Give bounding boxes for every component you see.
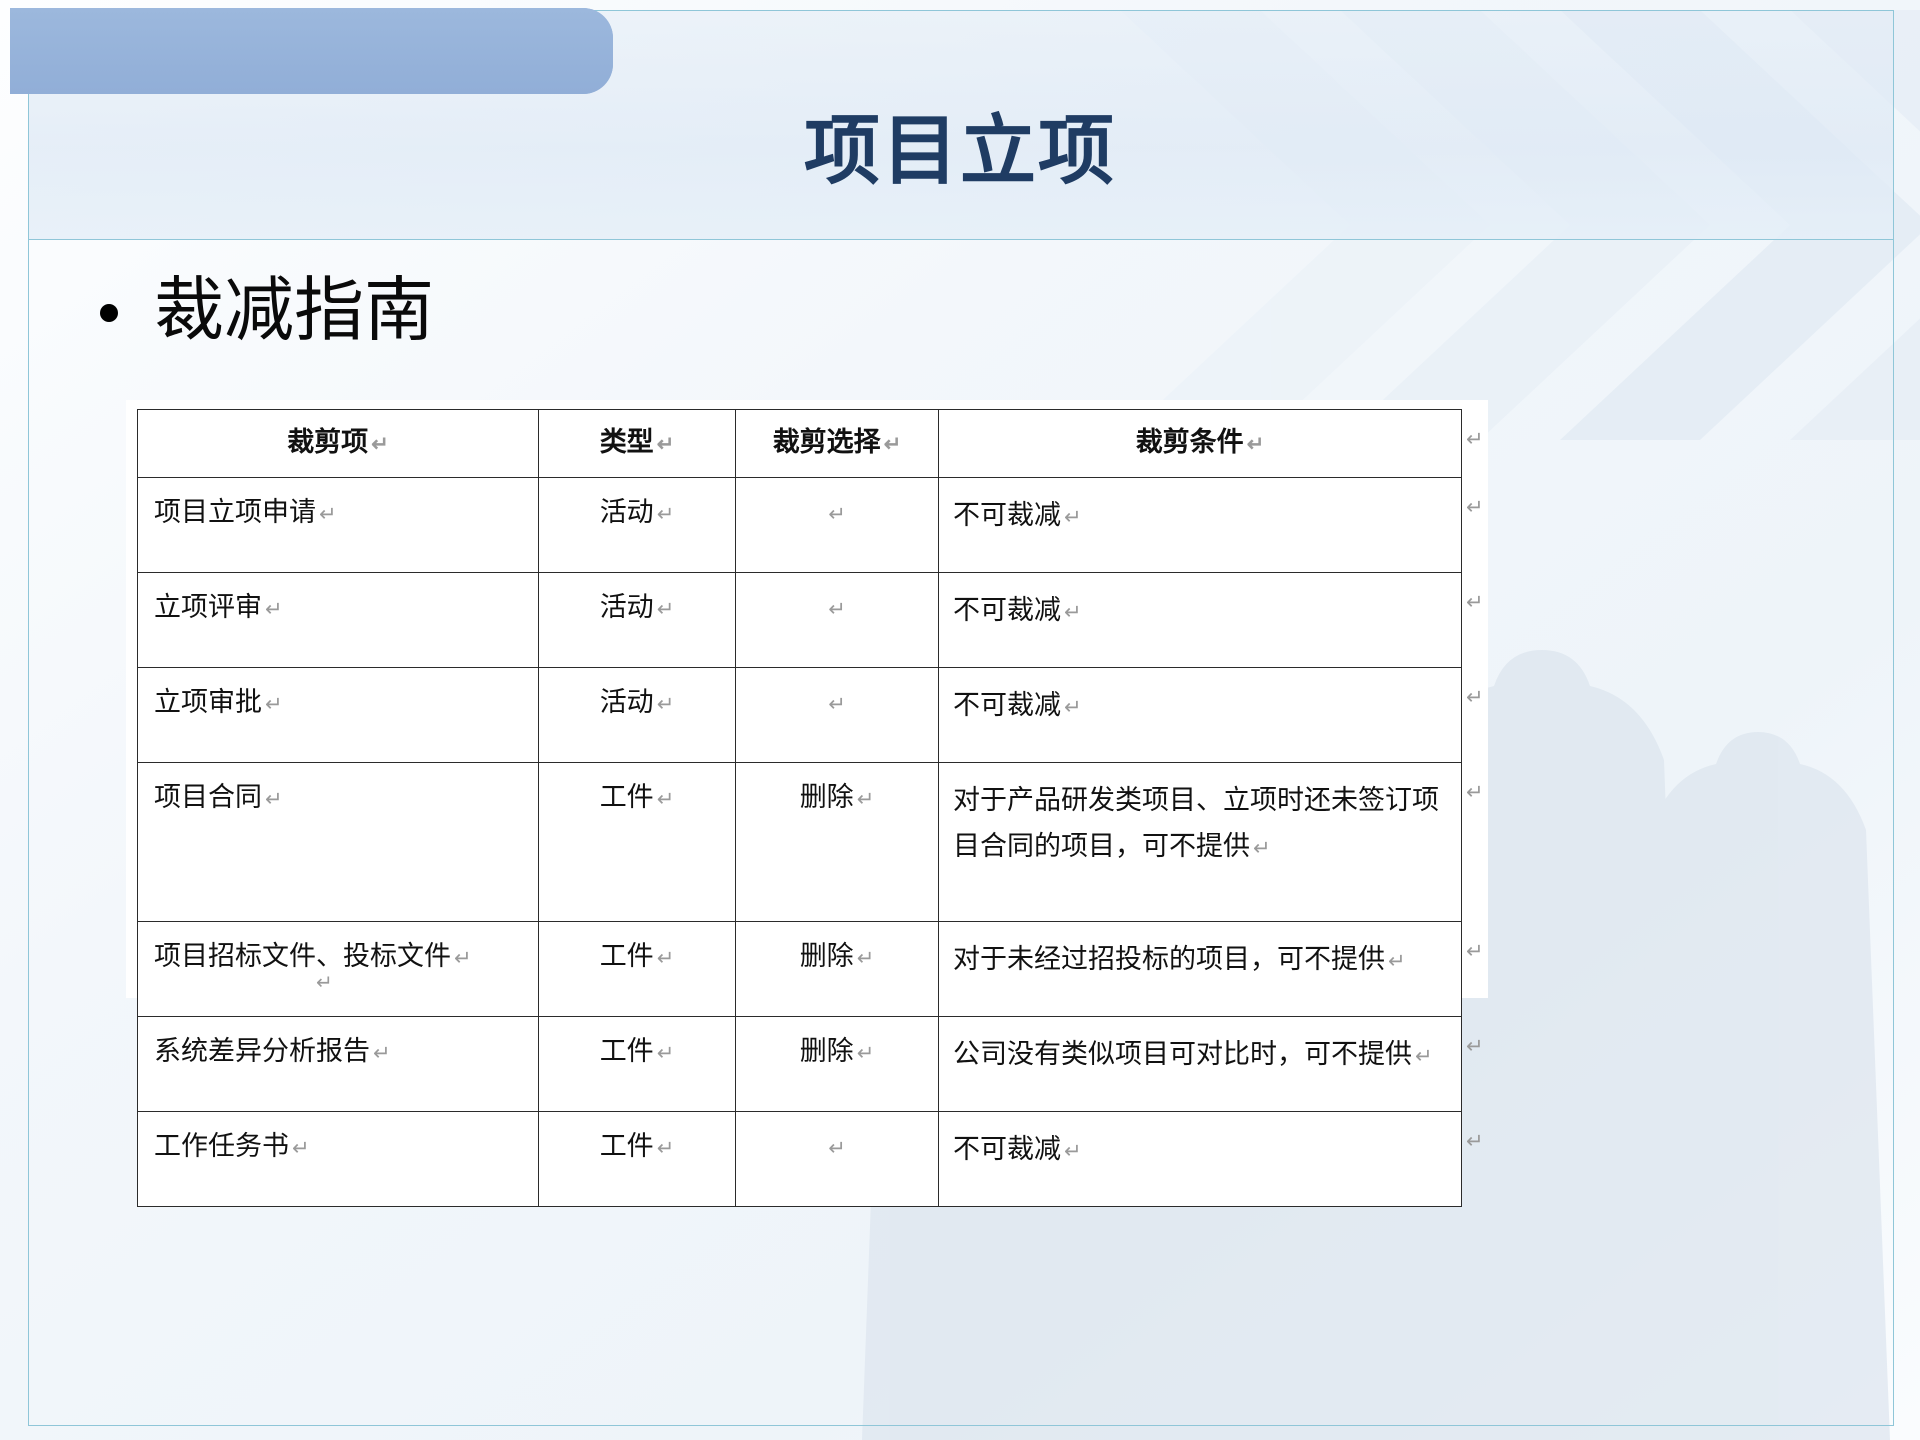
column-header-choice: 裁剪选择↵: [736, 410, 939, 478]
table-cell-choice: ↵: [736, 1112, 939, 1207]
table-cell-type: 活动↵: [539, 573, 736, 668]
table-cell-condition-text: 不可裁减: [953, 690, 1061, 720]
table-cell-choice: ↵: [736, 668, 939, 763]
paragraph-mark-icon: ↵: [1466, 685, 1484, 710]
table-head: 裁剪项↵ 类型↵ 裁剪选择↵ 裁剪条件↵: [138, 410, 1462, 478]
paragraph-mark-icon: ↵: [1466, 780, 1484, 805]
table-cell-type-text: 工件: [600, 1036, 654, 1066]
paragraph-mark-icon: ↵: [316, 503, 337, 526]
bullet-item: 裁减指南: [100, 268, 434, 352]
table-cell-item-text: 系统差异分析报告: [154, 1036, 370, 1066]
paragraph-mark-icon: ↵: [854, 1042, 875, 1065]
table-row: 立项审批↵活动↵↵不可裁减↵: [138, 668, 1462, 763]
table-cell-type: 活动↵: [539, 668, 736, 763]
paragraph-mark-icon: ↵: [1385, 950, 1406, 973]
paragraph-mark-icon: ↵: [1412, 1045, 1433, 1068]
paragraph-mark-icon: ↵: [1061, 1140, 1082, 1163]
table-cell-condition: 不可裁减↵: [939, 668, 1462, 763]
table-cell-item-text: 工作任务书: [154, 1131, 289, 1161]
table-cell-condition-text: 不可裁减: [953, 500, 1061, 530]
paragraph-mark-icon: ↵: [368, 433, 389, 456]
paragraph-mark-icon: ↵: [1466, 1129, 1484, 1154]
table-cell-type: 工件↵: [539, 1112, 736, 1207]
table-cell-item: 项目招标文件、投标文件↵: [138, 922, 539, 1017]
paragraph-mark-icon: ↵: [1250, 837, 1271, 860]
table-cell-type: 活动↵: [539, 478, 736, 573]
paragraph-mark-icon: ↵: [289, 1137, 310, 1160]
embedded-table-image: 裁剪项↵ 类型↵ 裁剪选择↵ 裁剪条件↵ 项目立项申请↵活动↵↵不可裁减↵立项评…: [126, 400, 1488, 998]
paragraph-mark-icon: ↵: [1061, 601, 1082, 624]
paragraph-mark-icon: ↵: [1466, 427, 1484, 452]
paragraph-mark-icon: ↵: [654, 947, 675, 970]
table-row: 项目招标文件、投标文件↵工件↵删除↵对于未经过招投标的项目，可不提供↵: [138, 922, 1462, 1017]
table-cell-item-text: 项目招标文件、投标文件: [154, 941, 451, 971]
corner-tab-shape-inner: [10, 8, 613, 94]
paragraph-mark-icon: ↵: [828, 1137, 846, 1160]
table-cell-condition: 公司没有类似项目可对比时，可不提供↵: [939, 1017, 1462, 1112]
table-cell-choice-text: 删除: [800, 782, 854, 812]
table-cell-condition: 对于产品研发类项目、立项时还未签订项目合同的项目，可不提供↵: [939, 763, 1462, 922]
table-cell-condition-text: 对于产品研发类项目、立项时还未签订项目合同的项目，可不提供: [953, 785, 1439, 861]
table-row: 工作任务书↵工件↵↵不可裁减↵: [138, 1112, 1462, 1207]
paragraph-mark-icon: ↵: [1061, 506, 1082, 529]
title-band-divider: [28, 239, 1894, 240]
table-cell-type-text: 活动: [600, 592, 654, 622]
paragraph-mark-icon: ↵: [654, 788, 675, 811]
paragraph-mark-icon: ↵: [1466, 495, 1484, 520]
table-cell-type-text: 活动: [600, 687, 654, 717]
table-cell-type-text: 活动: [600, 497, 654, 527]
table-cell-choice: 删除↵: [736, 922, 939, 1017]
table-cell-item: 系统差异分析报告↵: [138, 1017, 539, 1112]
column-header-type: 类型↵: [539, 410, 736, 478]
column-header-item: 裁剪项↵: [138, 410, 539, 478]
page-title: 项目立项: [300, 108, 1620, 196]
table-cell-item: 项目立项申请↵: [138, 478, 539, 573]
table-row: 系统差异分析报告↵工件↵删除↵公司没有类似项目可对比时，可不提供↵: [138, 1017, 1462, 1112]
table-row: 立项评审↵活动↵↵不可裁减↵: [138, 573, 1462, 668]
paragraph-mark-icon: ↵: [654, 1042, 675, 1065]
table-header-row: 裁剪项↵ 类型↵ 裁剪选择↵ 裁剪条件↵: [138, 410, 1462, 478]
paragraph-mark-icon: ↵: [654, 503, 675, 526]
table-cell-condition-text: 公司没有类似项目可对比时，可不提供: [953, 1039, 1412, 1069]
table-cell-condition: 不可裁减↵: [939, 573, 1462, 668]
paragraph-mark-icon: ↵: [654, 433, 675, 456]
slide: 项目立项 裁减指南 裁剪项↵ 类型↵ 裁剪选择↵ 裁剪条件↵ 项目立项申请↵活动…: [0, 0, 1920, 1440]
table-cell-item-text: 立项评审: [154, 592, 262, 622]
table-cell-choice: 删除↵: [736, 1017, 939, 1112]
column-header-condition: 裁剪条件↵: [939, 410, 1462, 478]
paragraph-mark-icon: ↵: [1244, 433, 1265, 456]
paragraph-mark-icon: ↵: [854, 947, 875, 970]
paragraph-mark-icon: ↵: [262, 598, 283, 621]
table-cell-condition-text: 对于未经过招投标的项目，可不提供: [953, 944, 1385, 974]
paragraph-mark-icon: ↵: [881, 433, 902, 456]
paragraph-mark-icon: ↵: [828, 503, 846, 526]
paragraph-mark-icon: ↵: [654, 598, 675, 621]
table-cell-condition: 不可裁减↵: [939, 478, 1462, 573]
paragraph-mark-icon: ↵: [262, 788, 283, 811]
table-cell-item-text: 立项审批: [154, 687, 262, 717]
table-row: 项目立项申请↵活动↵↵不可裁减↵: [138, 478, 1462, 573]
table-cell-condition-text: 不可裁减: [953, 595, 1061, 625]
table-cell-item: 项目合同↵: [138, 763, 539, 922]
table-cell-item: 立项评审↵: [138, 573, 539, 668]
paragraph-mark-icon: ↵: [828, 693, 846, 716]
table-cell-type: 工件↵: [539, 922, 736, 1017]
table-row: 项目合同↵工件↵删除↵对于产品研发类项目、立项时还未签订项目合同的项目，可不提供…: [138, 763, 1462, 922]
paragraph-mark-icon: ↵: [654, 693, 675, 716]
bullet-item-label: 裁减指南: [154, 268, 434, 352]
table-cell-type-text: 工件: [600, 782, 654, 812]
table-cell-condition: 对于未经过招投标的项目，可不提供↵: [939, 922, 1462, 1017]
table-cell-item: 工作任务书↵: [138, 1112, 539, 1207]
table-cell-condition: 不可裁减↵: [939, 1112, 1462, 1207]
paragraph-mark-icon: ↵: [654, 1137, 675, 1160]
table-cell-type-text: 工件: [600, 1131, 654, 1161]
table-cell-type: 工件↵: [539, 763, 736, 922]
document-tail-paragraph-mark: ↵: [316, 970, 333, 995]
paragraph-mark-icon: ↵: [1466, 939, 1484, 964]
table-cell-choice-text: 删除: [800, 941, 854, 971]
table-body: 项目立项申请↵活动↵↵不可裁减↵立项评审↵活动↵↵不可裁减↵立项审批↵活动↵↵不…: [138, 478, 1462, 1207]
paragraph-mark-icon: ↵: [828, 598, 846, 621]
table-wrapper: 裁剪项↵ 类型↵ 裁剪选择↵ 裁剪条件↵ 项目立项申请↵活动↵↵不可裁减↵立项评…: [137, 409, 1467, 1207]
cut-guideline-table: 裁剪项↵ 类型↵ 裁剪选择↵ 裁剪条件↵ 项目立项申请↵活动↵↵不可裁减↵立项评…: [137, 409, 1462, 1207]
paragraph-mark-icon: ↵: [1466, 590, 1484, 615]
table-cell-choice-text: 删除: [800, 1036, 854, 1066]
bullet-dot-icon: [100, 304, 118, 322]
paragraph-mark-icon: ↵: [854, 788, 875, 811]
paragraph-mark-icon: ↵: [262, 693, 283, 716]
table-cell-item-text: 项目合同: [154, 782, 262, 812]
paragraph-mark-icon: ↵: [451, 947, 472, 970]
table-cell-type: 工件↵: [539, 1017, 736, 1112]
paragraph-mark-icon: ↵: [370, 1042, 391, 1065]
paragraph-mark-icon: ↵: [1466, 1034, 1484, 1059]
table-cell-item-text: 项目立项申请: [154, 497, 316, 527]
table-cell-condition-text: 不可裁减: [953, 1134, 1061, 1164]
table-cell-choice: 删除↵: [736, 763, 939, 922]
table-cell-type-text: 工件: [600, 941, 654, 971]
paragraph-mark-icon: ↵: [1061, 696, 1082, 719]
table-cell-item: 立项审批↵: [138, 668, 539, 763]
table-cell-choice: ↵: [736, 478, 939, 573]
table-cell-choice: ↵: [736, 573, 939, 668]
